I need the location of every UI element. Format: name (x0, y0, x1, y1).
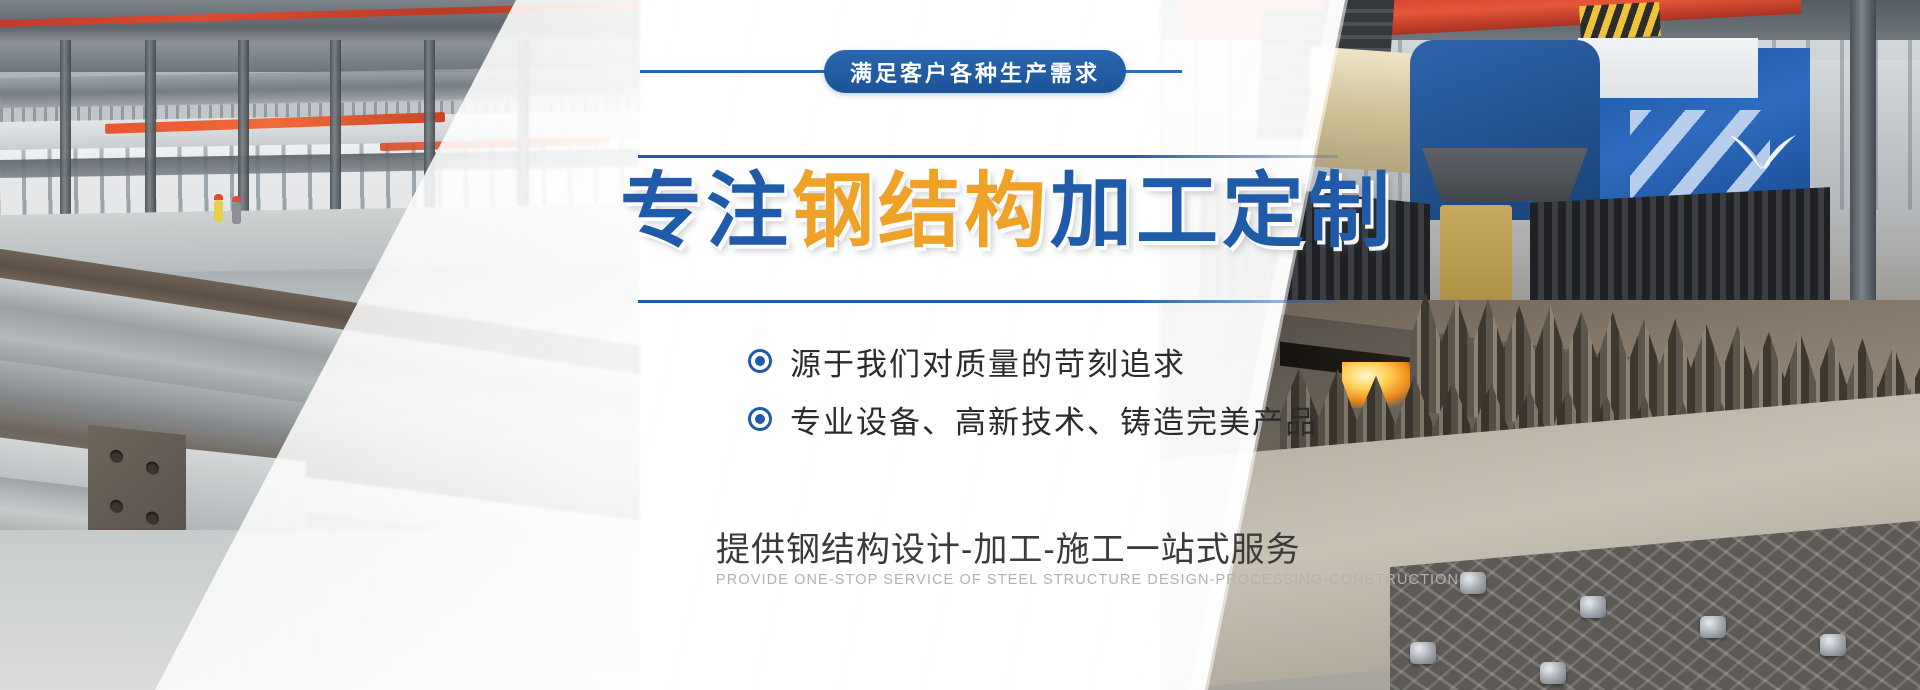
horizontal-rule-icon (1122, 70, 1182, 73)
headline-part-1: 专注 (620, 166, 792, 257)
service-tagline: 提供钢结构设计-加工-施工一站式服务 (716, 522, 1301, 571)
headline-part-3: 加工定制 (1050, 166, 1394, 257)
list-item-label: 专业设备、高新技术、铸造完美产品 (790, 397, 1318, 442)
service-tagline-english: PROVIDE ONE-STOP SERVICE OF STEEL STRUCT… (716, 572, 1459, 588)
status-badge: 满足客户各种生产需求 (824, 50, 1126, 93)
list-item-label: 源于我们对质量的苛刻追求 (790, 339, 1186, 384)
page-title: 专注钢结构加工定制 (620, 166, 1440, 258)
list-item: 源于我们对质量的苛刻追求 (748, 335, 1318, 387)
radio-dot-icon (748, 349, 772, 373)
headline-rule-top (638, 155, 1338, 158)
headline-rule-bottom (638, 300, 1338, 303)
horizontal-rule-icon (640, 70, 830, 73)
hero-banner: 满足客户各种生产需求 专注钢结构加工定制 源于我们对质量的苛刻追求 专业设备、高… (0, 0, 1920, 690)
feature-list: 源于我们对质量的苛刻追求 专业设备、高新技术、铸造完美产品 (748, 335, 1318, 451)
radio-dot-icon (748, 407, 772, 431)
headline-part-2: 钢结构 (792, 166, 1050, 257)
tagline-badge-row: 满足客户各种生产需求 (640, 50, 1182, 93)
banner-content: 满足客户各种生产需求 专注钢结构加工定制 源于我们对质量的苛刻追求 专业设备、高… (0, 0, 1920, 690)
list-item: 专业设备、高新技术、铸造完美产品 (748, 393, 1318, 445)
